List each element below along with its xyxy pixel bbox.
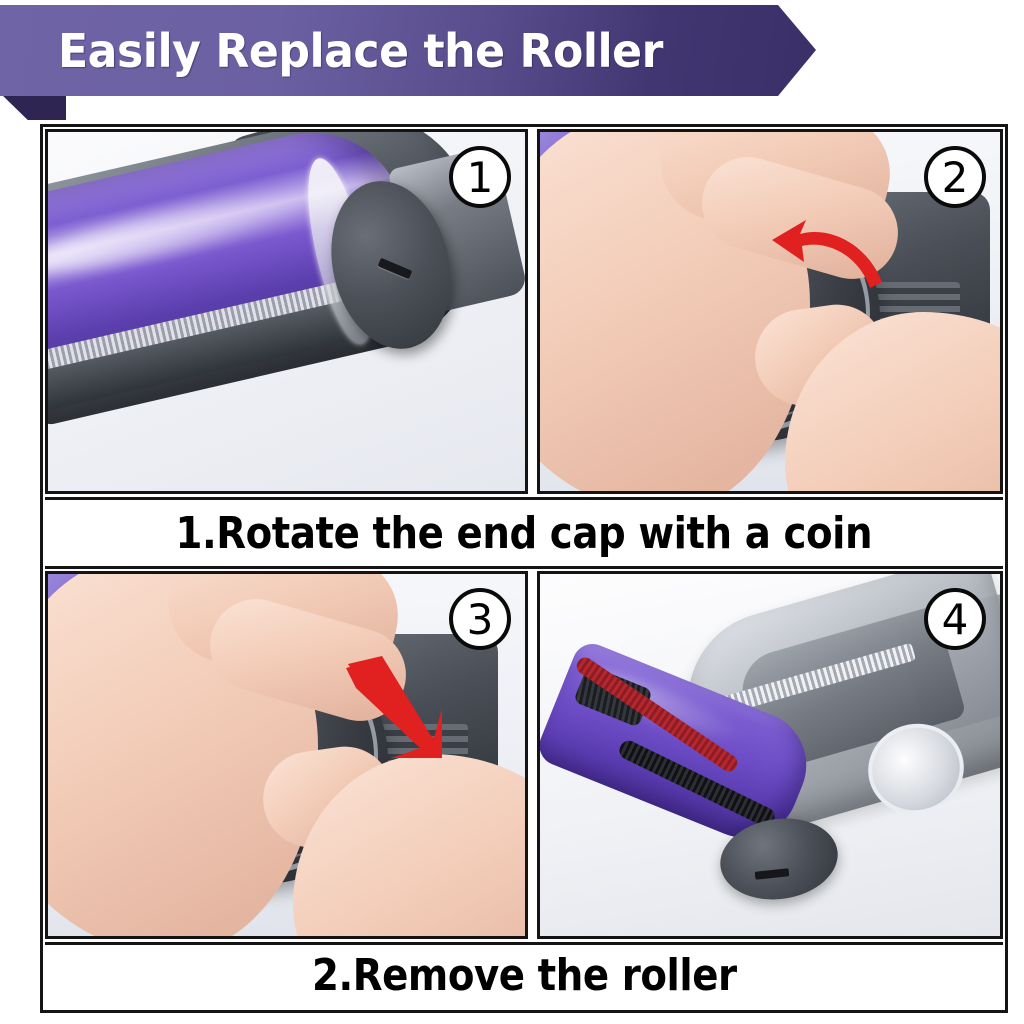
caption-row-1: 1.Rotate the end cap with a coin: [45, 497, 1003, 569]
pull-arrow-icon: [338, 654, 448, 764]
step-row-1: 1: [43, 127, 1005, 494]
page-title: Easily Replace the Roller: [58, 24, 663, 78]
step-panel-3: 3: [45, 571, 528, 939]
rotate-arrow-icon: [770, 220, 890, 306]
instruction-grid: 1: [40, 124, 1008, 1013]
step-badge-2: 2: [924, 146, 986, 208]
title-banner: Easily Replace the Roller: [0, 0, 1024, 125]
caption-text-2: 2.Remove the roller: [312, 950, 737, 1001]
caption-row-2: 2.Remove the roller: [45, 942, 1003, 1006]
caption-text-1: 1.Rotate the end cap with a coin: [176, 508, 873, 559]
step-badge-3: 3: [449, 588, 511, 650]
banner-ribbon: Easily Replace the Roller: [0, 5, 816, 96]
banner-tail-fold: [0, 93, 66, 120]
step-badge-1: 1: [449, 146, 511, 208]
step-row-2: 3 4: [43, 569, 1005, 939]
step-panel-4: 4: [537, 571, 1003, 939]
step-badge-4: 4: [924, 588, 986, 650]
step-panel-2: 2: [537, 129, 1003, 494]
step-panel-1: 1: [45, 129, 528, 494]
